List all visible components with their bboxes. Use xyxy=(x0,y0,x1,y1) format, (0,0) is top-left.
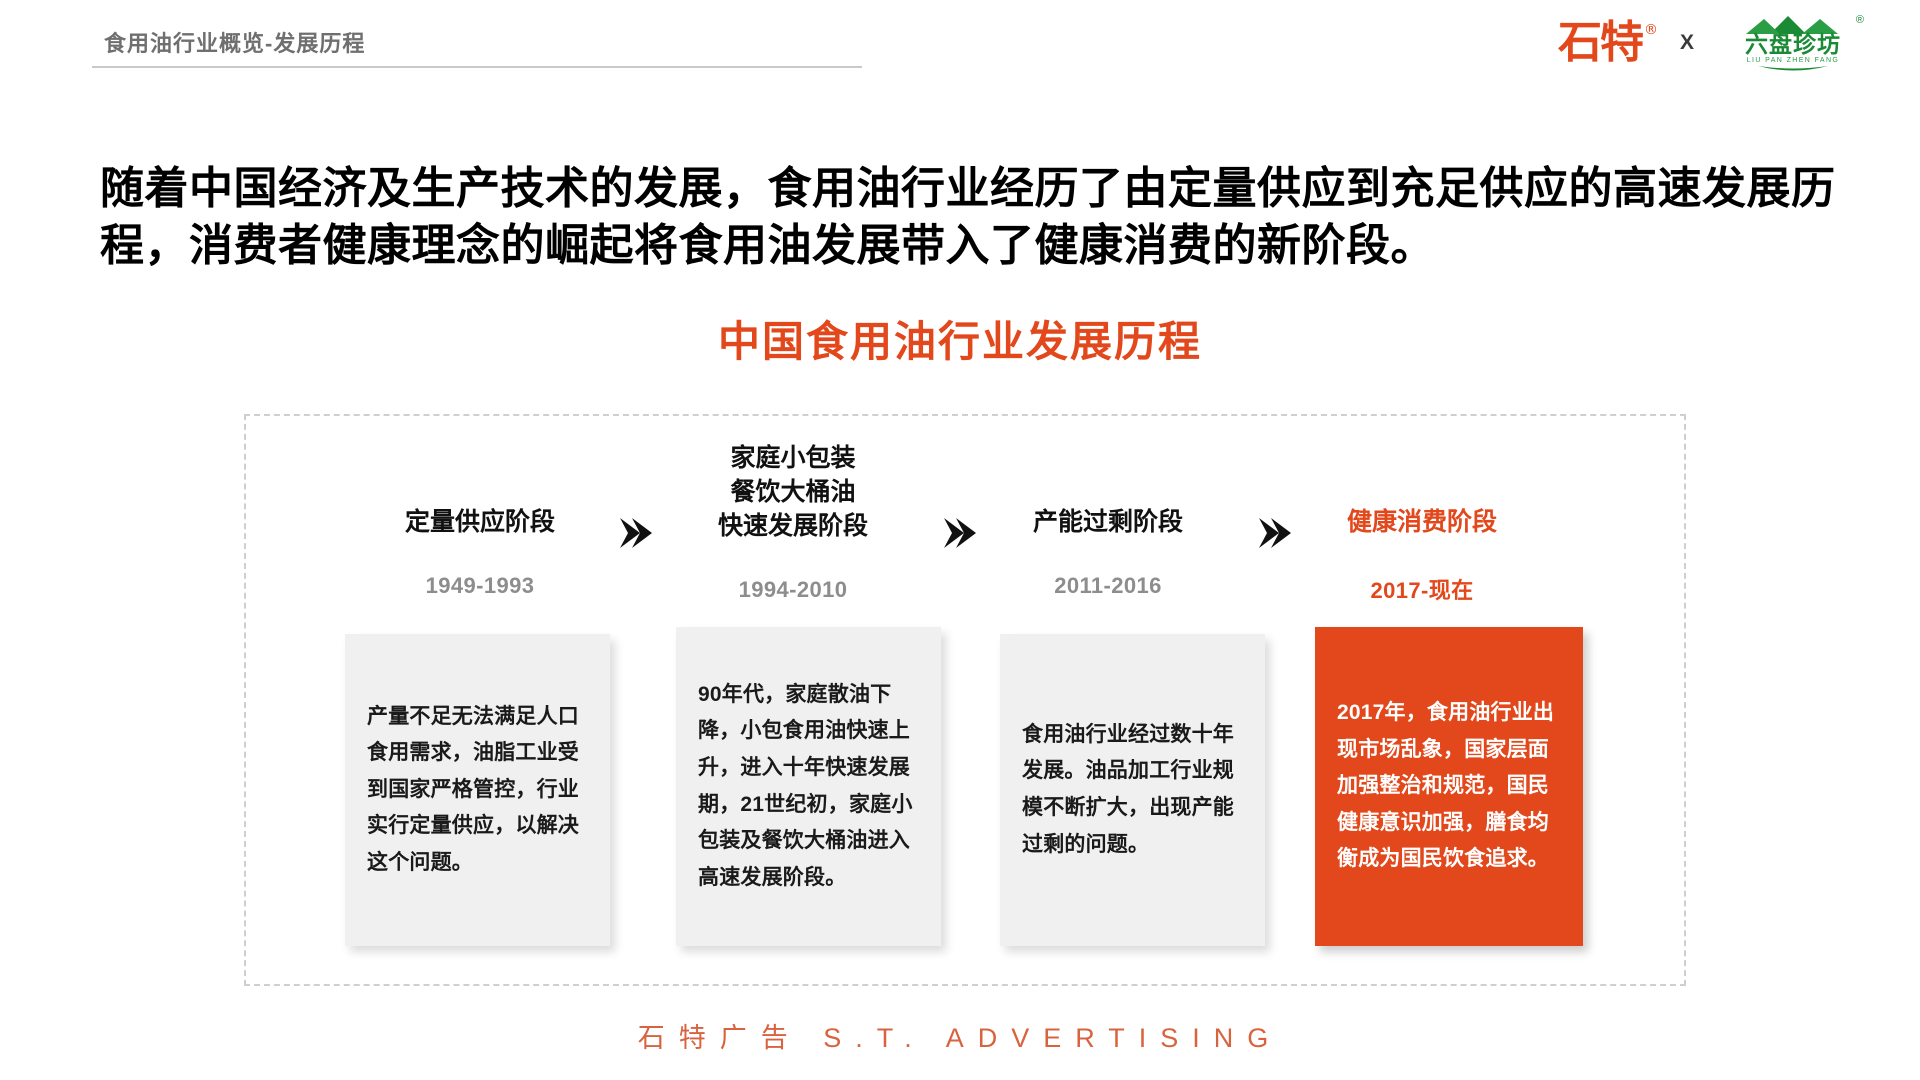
card-text: 90年代，家庭散油下降，小包食用油快速上升，进入十年快速发展期，21世纪初，家庭… xyxy=(698,677,919,896)
swoosh-icon xyxy=(1758,65,1828,73)
timeline-card-4: 2017年，食用油行业出现市场乱象，国家层面加强整治和规范，国民健康意识加强，膳… xyxy=(1315,627,1583,946)
stage-label: 产能过剩阶段 xyxy=(968,505,1248,539)
stage-label: 家庭小包装 餐饮大桶油 快速发展阶段 xyxy=(653,441,933,543)
liupanzhenfang-logo: ® 六盘珍坊 LIU PAN ZHEN FANG xyxy=(1718,12,1868,74)
footer-brandline: 石特广告 S.T. ADVERTISING xyxy=(0,1016,1920,1055)
registered-mark-icon: ® xyxy=(1856,14,1864,26)
card-text: 食用油行业经过数十年发展。油品加工行业规模不断扩大，出现产能过剩的问题。 xyxy=(1022,717,1243,863)
liupanzhenfang-pinyin: LIU PAN ZHEN FANG xyxy=(1718,57,1868,64)
stage-years: 2017-现在 xyxy=(1282,573,1562,605)
page-header: 食用油行业概览-发展历程 石特 ® X ® 六盘珍坊 LIU PAN ZHEN … xyxy=(0,0,1920,92)
timeline-stage-header-2: 家庭小包装 餐饮大桶油 快速发展阶段 1994-2010 xyxy=(653,441,933,603)
card-text: 产量不足无法满足人口食用需求，油脂工业受到国家严格管控，行业实行定量供应，以解决… xyxy=(367,699,588,882)
stage-years: 1994-2010 xyxy=(653,577,933,603)
chevron-right-icon-3 xyxy=(1253,516,1293,550)
headline: 随着中国经济及生产技术的发展，食用油行业经历了由定量供应到充足供应的高速发展历程… xyxy=(100,160,1840,274)
section-subtitle: 中国食用油行业发展历程 xyxy=(0,308,1920,369)
chevron-right-icon-1 xyxy=(614,516,654,550)
header-divider xyxy=(92,66,862,68)
timeline-card-1: 产量不足无法满足人口食用需求，油脂工业受到国家严格管控，行业实行定量供应，以解决… xyxy=(345,634,610,946)
stage-years: 2011-2016 xyxy=(968,573,1248,599)
timeline-stage-header-3: 产能过剩阶段 2011-2016 xyxy=(968,505,1248,599)
stage-label: 定量供应阶段 xyxy=(340,505,620,539)
timeline-card-2: 90年代，家庭散油下降，小包食用油快速上升，进入十年快速发展期，21世纪初，家庭… xyxy=(676,627,941,946)
shite-logo-text: 石特 xyxy=(1558,21,1642,65)
logo-group: 石特 ® X ® 六盘珍坊 LIU PAN ZHEN FANG xyxy=(1558,12,1868,74)
registered-mark-icon: ® xyxy=(1644,23,1656,37)
stage-years: 1949-1993 xyxy=(340,573,620,599)
stage-label: 健康消费阶段 xyxy=(1282,505,1562,539)
shite-logo: 石特 ® xyxy=(1558,21,1656,65)
liupanzhenfang-logo-text: 六盘珍坊 xyxy=(1718,32,1868,56)
timeline-stage-header-1: 定量供应阶段 1949-1993 xyxy=(340,505,620,599)
page-title: 食用油行业概览-发展历程 xyxy=(104,26,365,58)
timeline-card-3: 食用油行业经过数十年发展。油品加工行业规模不断扩大，出现产能过剩的问题。 xyxy=(1000,634,1265,946)
timeline-stage-header-4: 健康消费阶段 2017-现在 xyxy=(1282,505,1562,605)
logo-separator: X xyxy=(1674,31,1700,55)
chevron-right-icon-2 xyxy=(938,516,978,550)
card-text: 2017年，食用油行业出现市场乱象，国家层面加强整治和规范，国民健康意识加强，膳… xyxy=(1337,695,1561,878)
